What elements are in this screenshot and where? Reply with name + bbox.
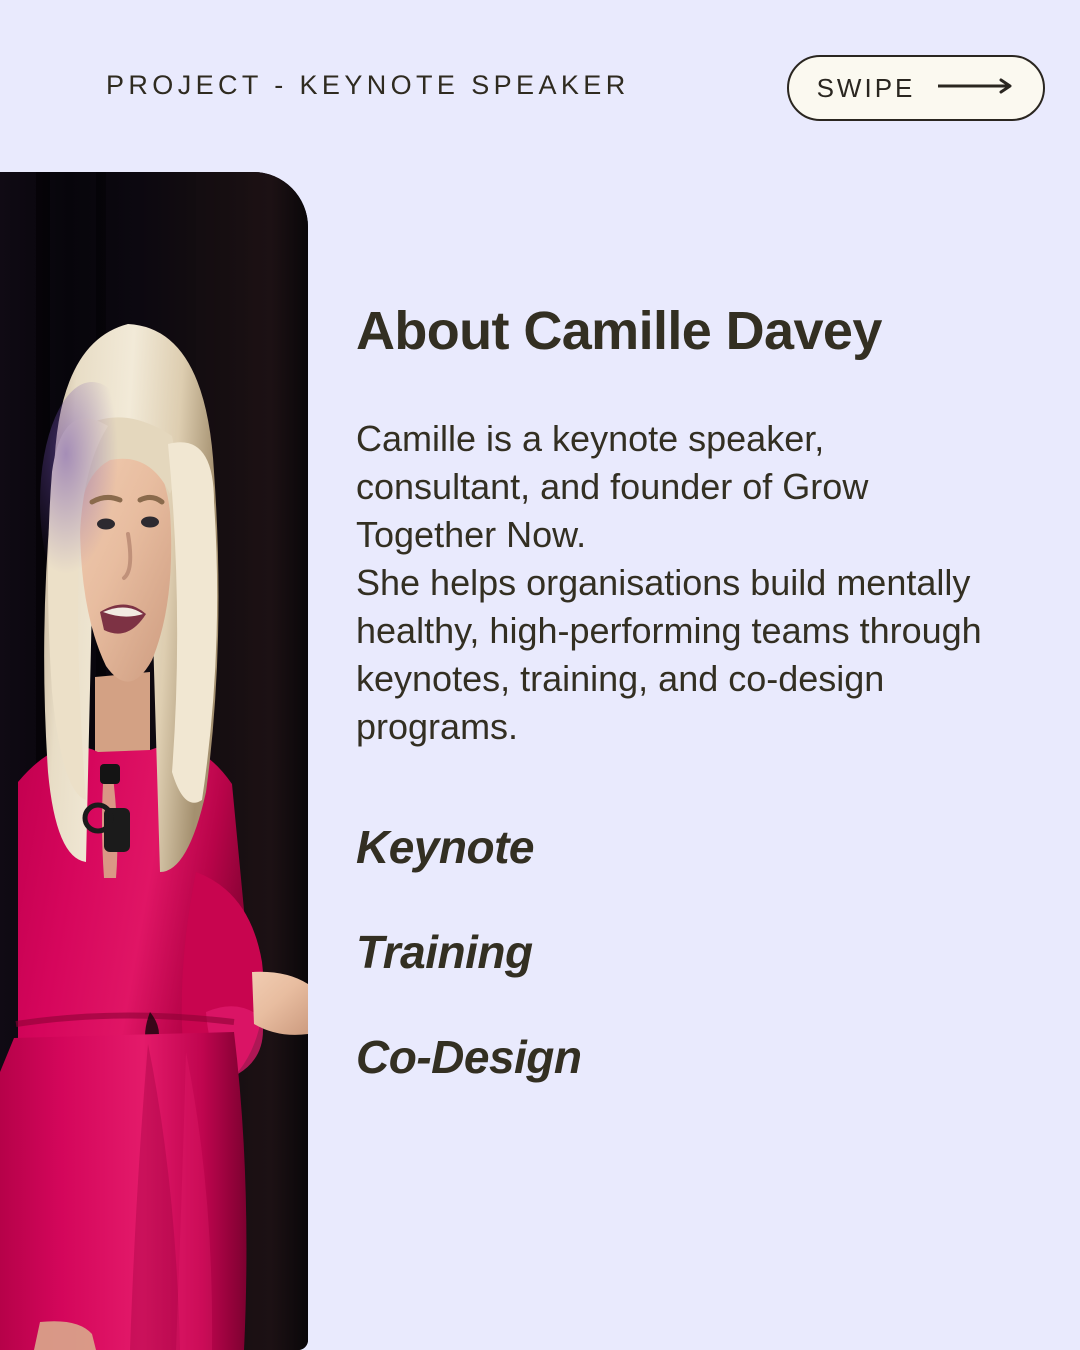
service-item-keynote: Keynote [356,820,582,874]
bio-paragraph-1: Camille is a keynote speaker, consultant… [356,415,996,559]
page-title: About Camille Davey [356,300,882,362]
speaker-photo [0,172,308,1350]
bio-paragraph-2: She helps organisations build mentally h… [356,559,996,751]
services-list: Keynote Training Co-Design [356,820,582,1084]
service-item-co-design: Co-Design [356,1030,582,1084]
service-item-training: Training [356,925,582,979]
bio-text: Camille is a keynote speaker, consultant… [356,415,996,751]
content-column: About Camille Davey Camille is a keynote… [356,0,1056,1350]
slide-root: PROJECT - KEYNOTE SPEAKER SWIPE [0,0,1080,1350]
